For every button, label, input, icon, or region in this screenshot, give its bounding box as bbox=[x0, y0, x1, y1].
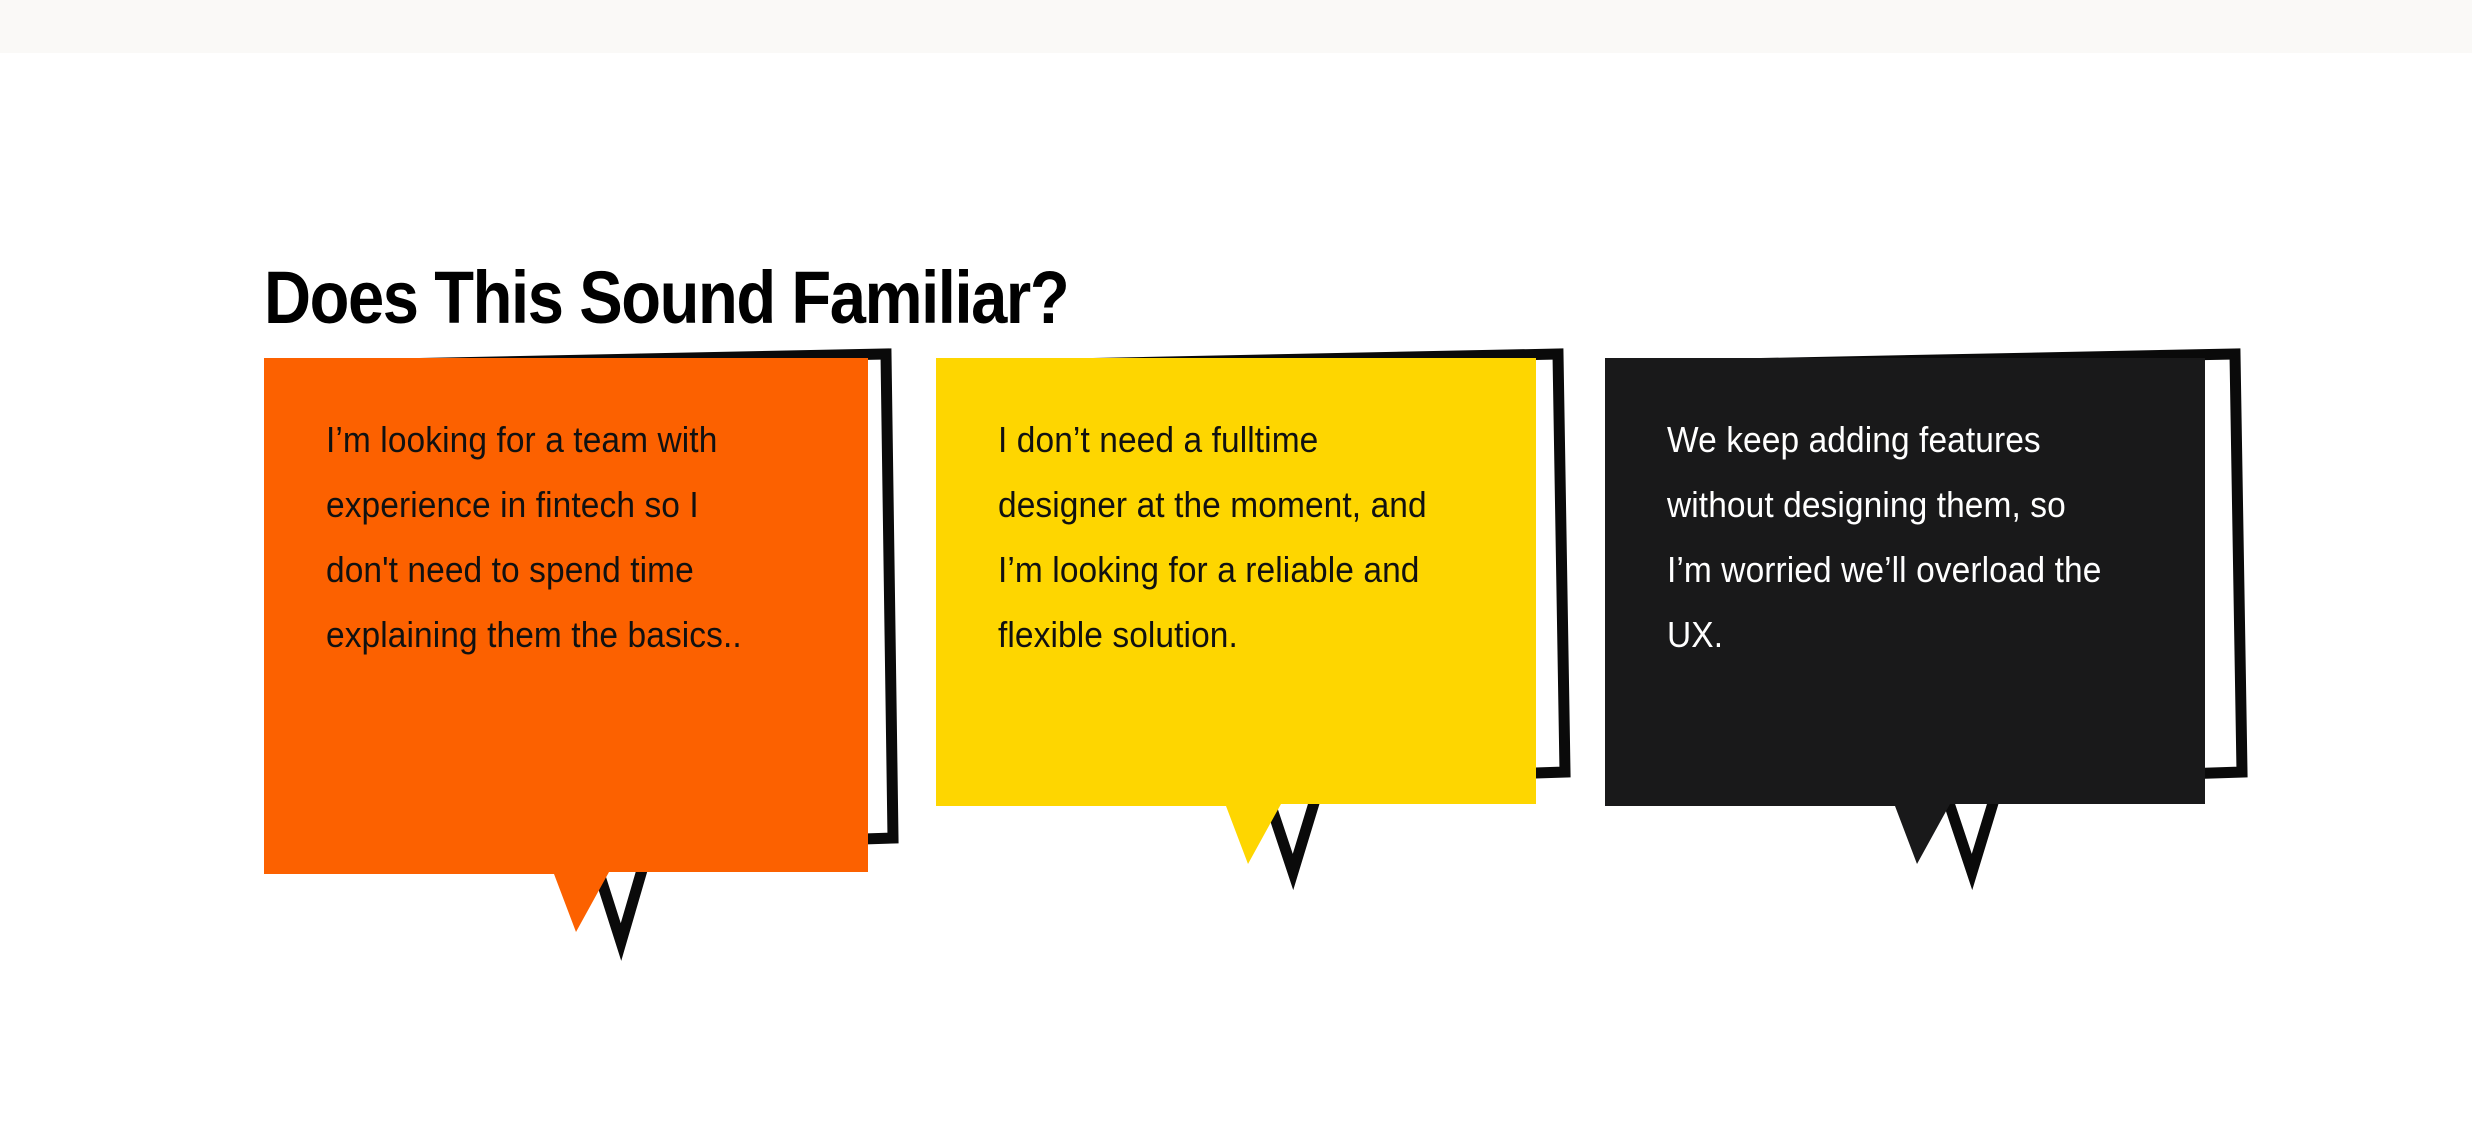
bubble-quote-text: I don’t need a fulltime designer at the … bbox=[998, 407, 1433, 667]
bubble-quote-text: I’m looking for a team with experience i… bbox=[326, 407, 761, 667]
speech-bubble-dark: We keep adding features without designin… bbox=[1605, 352, 2245, 972]
bubble-quote-text: We keep adding features without designin… bbox=[1667, 407, 2102, 667]
speech-bubble-list: I’m looking for a team with experience i… bbox=[0, 0, 2472, 1124]
speech-bubble-yellow: I don’t need a fulltime designer at the … bbox=[936, 352, 1576, 972]
page-canvas: Does This Sound Familiar? I’m looking fo… bbox=[0, 0, 2472, 1124]
speech-bubble-orange: I’m looking for a team with experience i… bbox=[264, 352, 904, 972]
